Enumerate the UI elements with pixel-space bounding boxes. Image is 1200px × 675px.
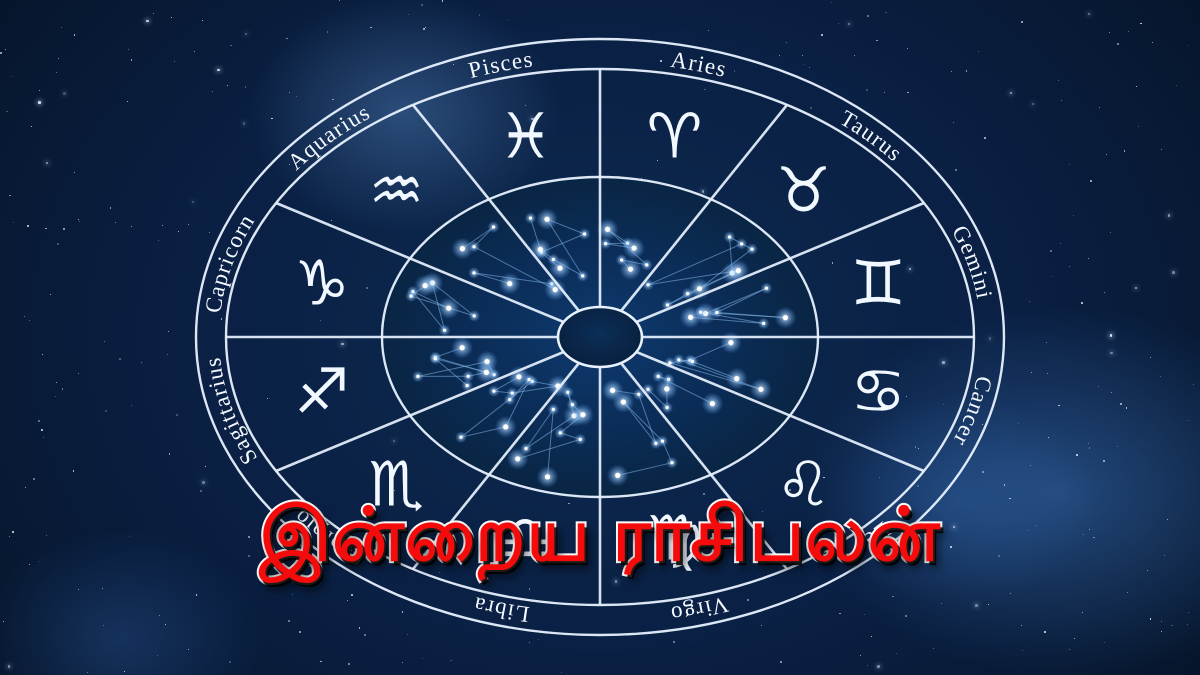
constellation-star <box>631 246 636 251</box>
zodiac-horoscope-graphic: ♈♉♊♋♌♍♎♏♐♑♒♓ AriesTaurusGeminiCancerLeoV… <box>0 0 1200 675</box>
zodiac-glyph-aquarius: ♒ <box>369 153 425 226</box>
constellation-star <box>507 281 512 286</box>
constellation-star <box>473 314 476 317</box>
constellation-star <box>661 440 664 443</box>
constellation-star <box>610 388 615 393</box>
zodiac-glyph-scorpio: ♏ <box>369 448 425 521</box>
zodiac-glyph-sagittarius: ♐ <box>294 354 350 427</box>
constellation-star <box>492 225 495 228</box>
constellation-star <box>670 461 673 464</box>
constellation-star <box>621 399 626 404</box>
zodiac-glyph-pisces: ♓ <box>498 100 554 173</box>
constellation-star <box>740 242 743 245</box>
zodiac-glyph-virgo: ♍ <box>647 501 703 574</box>
constellation-star <box>423 283 428 288</box>
constellation-star <box>646 388 649 391</box>
constellation-star <box>710 401 715 406</box>
constellation-star <box>579 438 582 441</box>
constellation-star <box>559 431 562 434</box>
constellation-star <box>538 247 543 252</box>
constellation-star <box>557 266 562 271</box>
constellation-star <box>508 398 511 401</box>
constellation-star <box>637 393 640 396</box>
constellation-star <box>628 267 633 272</box>
constellation-star <box>515 456 520 461</box>
constellation-star <box>544 217 549 222</box>
constellation-star <box>677 358 680 361</box>
zodiac-glyph-leo: ♌ <box>776 448 832 521</box>
zodiac-glyph-cancer: ♋ <box>850 354 906 427</box>
constellation-star <box>666 303 669 306</box>
constellation-star <box>605 227 610 232</box>
constellation-star <box>645 263 648 266</box>
constellation-star <box>527 378 530 381</box>
constellation-star <box>580 412 585 417</box>
constellation-star <box>460 345 465 350</box>
constellation-star <box>583 232 586 235</box>
constellation-star <box>750 248 753 251</box>
constellation-star <box>416 375 419 378</box>
constellation-star <box>765 287 768 290</box>
constellation-star <box>571 403 574 406</box>
constellation-star <box>604 242 607 245</box>
zodiac-name-aquarius: Aquarius <box>283 99 375 175</box>
zodiac-glyph-gemini: ♊ <box>850 247 906 320</box>
constellation-star <box>516 374 521 379</box>
constellation-star <box>484 370 489 375</box>
constellation-star <box>620 258 623 261</box>
zodiac-wheel: ♈♉♊♋♌♍♎♏♐♑♒♓ AriesTaurusGeminiCancerLeoV… <box>0 0 1200 675</box>
constellation-star <box>647 283 650 286</box>
zodiac-glyph-aries: ♈ <box>647 100 703 173</box>
constellation-star <box>553 287 558 292</box>
constellation-star <box>783 315 788 320</box>
zodiac-glyph-libra: ♎ <box>498 501 554 574</box>
zodiac-glyph-taurus: ♉ <box>776 153 832 226</box>
constellation-star <box>664 386 669 391</box>
constellation-star <box>446 306 451 311</box>
constellation-star <box>545 474 550 479</box>
constellation-star <box>736 268 741 273</box>
constellation-star <box>666 406 669 409</box>
constellation-star <box>657 375 660 378</box>
constellation-star <box>691 360 694 363</box>
constellation-star <box>686 292 689 295</box>
constellation-star <box>460 246 465 251</box>
constellation-star <box>524 447 527 450</box>
constellation-star <box>492 390 495 393</box>
constellation-star <box>552 408 555 411</box>
zodiac-glyph-capricorn: ♑ <box>294 247 350 320</box>
constellation-star <box>503 424 508 429</box>
constellation-star <box>552 258 555 261</box>
constellation-star <box>529 217 532 220</box>
constellation-star <box>581 274 584 277</box>
zodiac-name-leo: Leo <box>849 517 896 561</box>
constellation-star <box>688 315 693 320</box>
constellation-star <box>472 271 475 274</box>
constellation-star <box>459 436 462 439</box>
constellation-star <box>728 235 731 238</box>
constellation-star <box>734 376 739 381</box>
constellation-star <box>467 375 470 378</box>
center-hub <box>558 307 642 367</box>
constellation-star <box>697 286 702 291</box>
constellation-star <box>466 384 469 387</box>
constellation-star <box>715 311 718 314</box>
constellation-star <box>434 357 437 360</box>
constellation-star <box>762 322 765 325</box>
constellation-star <box>410 295 413 298</box>
constellation-star <box>758 387 763 392</box>
constellation-star <box>615 473 620 478</box>
constellation-star <box>443 329 446 332</box>
constellation-star <box>728 340 733 345</box>
